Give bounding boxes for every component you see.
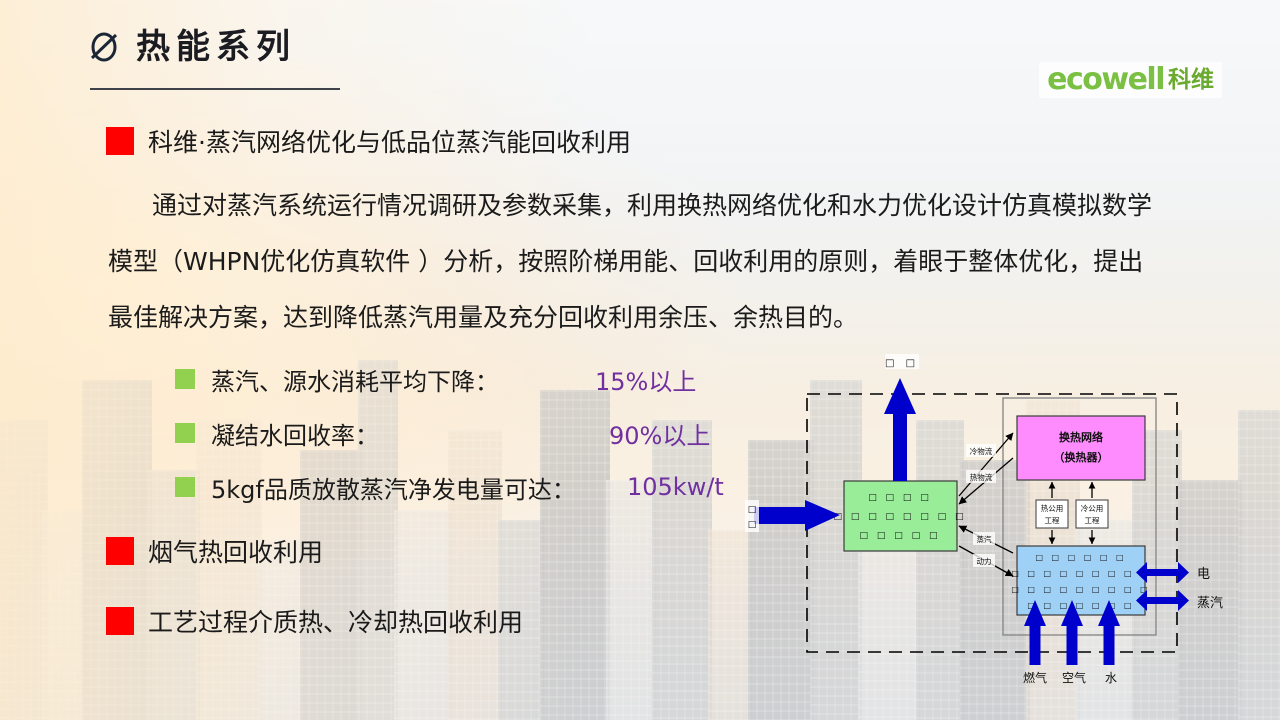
heat-network-box [1017,416,1145,480]
body-paragraph: 通过对蒸汽系统运行情况调研及参数采集，利用换热网络优化和水力优化设计仿真模拟数学… [108,178,1268,346]
metric-value: 105kw/t [627,473,724,501]
metric-label: 凝结水回收率： [211,416,379,451]
hot-utility-sublabel: 工程 [1045,516,1061,525]
left-input-label-bottom: □ [748,520,757,530]
red-square-marker [106,127,134,155]
blue-box-row-3: □ □ □ □ □ □ □ □ □ [1011,585,1150,594]
heat-network-label: 换热网络 [1059,430,1103,444]
steam-label: 蒸汽 [977,534,992,544]
sub-bullet-label: 工艺过程介质热、冷却热回收利用 [148,603,523,639]
sub-bullet-label: 烟气热回收利用 [148,533,323,569]
top-output-arrow [884,378,916,481]
blue-box-row-4: □ □ □ □ □ □ □ [1027,601,1134,610]
metric-row: 5kgf品质放散蒸汽净发电量可达： 105kw/t [175,460,775,514]
metric-value: 15%以上 [595,362,696,397]
steam-output-label: 蒸汽 [1197,596,1223,611]
blue-box-row-1: □ □ □ □ □ □ [1035,553,1126,562]
sub-bullet-process-heat: 工艺过程介质热、冷却热回收利用 [106,603,523,639]
heat-network-sublabel: （换热器） [1054,450,1109,464]
paragraph-line-2: 模型（WHPN优化仿真软件 ）分析，按照阶梯用能、回收利用的原则，着眼于整体优化… [108,234,1268,290]
left-input-arrow [754,500,840,531]
green-square-marker [175,477,195,497]
hot-utility-label: 热公用 [1041,503,1064,513]
red-square-marker [106,607,134,635]
electricity-label: 电 [1197,567,1210,582]
metrics-list: 蒸汽、源水消耗平均下降： 15%以上 凝结水回收率： 90%以上 5kgf品质放… [175,352,775,514]
metric-value: 90%以上 [609,416,710,451]
cold-utility-label: 冷公用 [1081,503,1104,513]
water-label: 水 [1105,671,1117,685]
paragraph-line-1: 通过对蒸汽系统运行情况调研及参数采集，利用换热网络优化和水力优化设计仿真模拟数学 [108,178,1268,234]
power-label: 动力 [977,556,992,566]
slide-canvas: 热能系列 ecowell 科维 科维·蒸汽网络优化与低品位蒸汽能回收利用 通过对… [0,0,1280,720]
left-input-label-top: □ [748,505,757,515]
green-box-row-1: □ □ □ □ [868,493,932,503]
green-box-row-2: □ □ □ □ □ □ □ □ [833,512,966,522]
hot-stream-label: 热物流 [970,472,993,482]
red-square-marker [106,537,134,565]
electricity-output-arrow [1136,562,1189,583]
green-box-row-3: □ □ □ □ □ [860,531,941,541]
green-square-marker [175,369,195,389]
process-flow-diagram: □ □ □ □ □ □ □ □ □ □ □ □ □ □ □ □ □ 换热网络 （… [745,348,1275,700]
green-square-marker [175,423,195,443]
steam-output-arrow [1136,590,1189,611]
section-heading-bullet: 科维·蒸汽网络优化与低品位蒸汽能回收利用 [106,123,631,159]
sub-bullet-flue-gas: 烟气热回收利用 [106,533,323,569]
fuel-gas-label: 燃气 [1023,670,1047,685]
paragraph-line-3: 最佳解决方案，达到降低蒸汽用量及充分回收利用余压、余热目的。 [108,290,1268,346]
blue-box-row-2: □ □ □ □ □ □ □ □ □ [1011,569,1150,578]
metric-row: 凝结水回收率： 90%以上 [175,406,775,460]
metric-row: 蒸汽、源水消耗平均下降： 15%以上 [175,352,775,406]
slide-content: 科维·蒸汽网络优化与低品位蒸汽能回收利用 通过对蒸汽系统运行情况调研及参数采集，… [0,0,1280,720]
air-label: 空气 [1062,670,1086,685]
metric-label: 5kgf品质放散蒸汽净发电量可达： [211,470,576,505]
section-heading-text: 科维·蒸汽网络优化与低品位蒸汽能回收利用 [148,123,631,159]
top-output-label: □ □ [885,358,919,369]
cold-utility-sublabel: 工程 [1085,516,1101,525]
metric-label: 蒸汽、源水消耗平均下降： [211,362,499,397]
cold-stream-label: 冷物流 [970,446,993,456]
